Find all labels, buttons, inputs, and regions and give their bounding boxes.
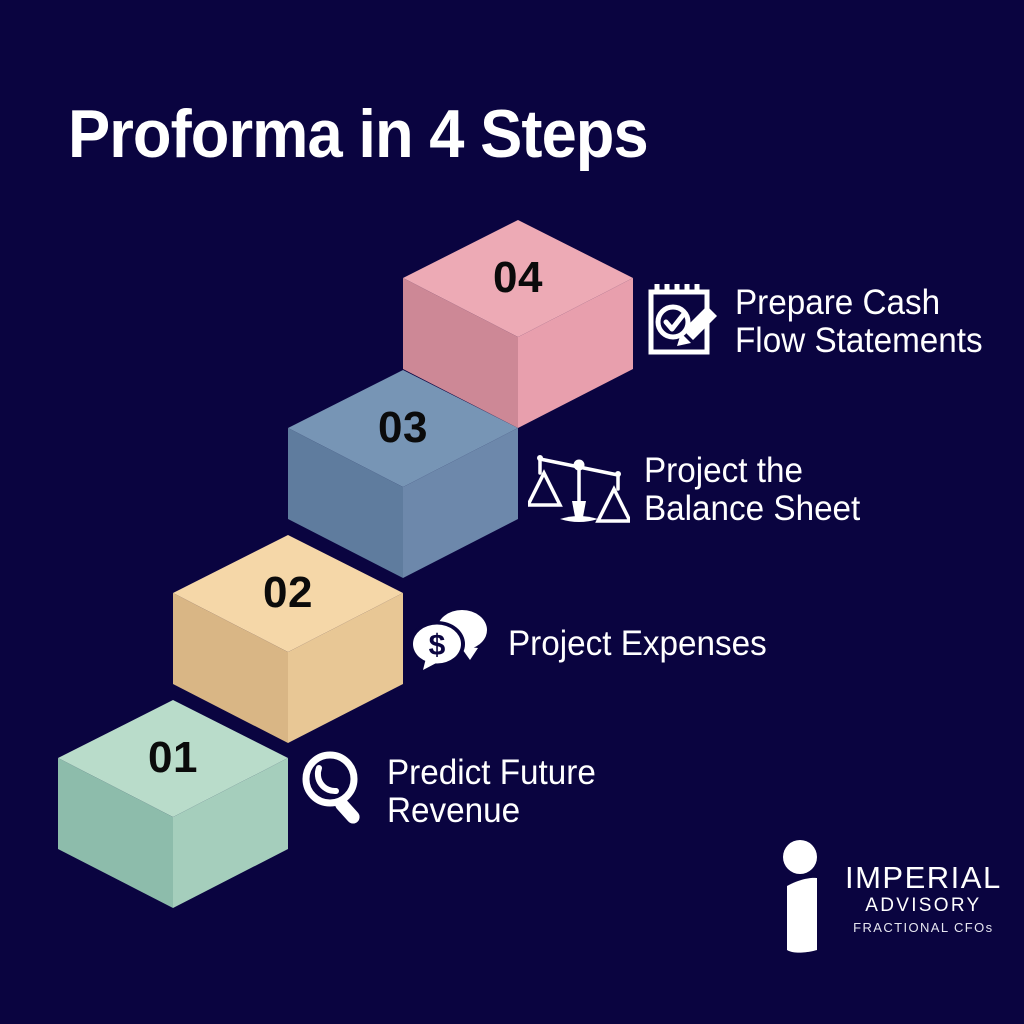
step-label-03: Project the Balance Sheet — [644, 452, 860, 526]
logo-wordmark: IMPERIAL ADVISORY FRACTIONAL CFOs — [845, 862, 1002, 937]
cube-03-top — [288, 370, 518, 487]
notepad-check-pencil-icon — [643, 278, 721, 365]
infographic-canvas: Proforma in 4 Steps 01 02 03 — [0, 0, 1024, 1024]
step-row-01: Predict Future Revenue — [297, 748, 607, 835]
cube-02: 02 — [173, 535, 403, 743]
cube-02-left — [173, 593, 288, 743]
step-row-03: Project the Balance Sheet — [528, 443, 872, 536]
cube-03: 03 — [288, 370, 518, 578]
logo-division: ADVISORY — [865, 894, 981, 919]
cube-01-number: 01 — [148, 733, 198, 782]
cube-03-left — [288, 428, 403, 578]
cube-03-right — [403, 428, 518, 578]
cube-04-number: 04 — [493, 253, 543, 302]
cube-01-top — [58, 700, 288, 817]
cube-04-right — [518, 278, 633, 428]
cube-02-number: 02 — [263, 568, 313, 617]
person-i-icon — [775, 838, 829, 961]
step-label-02: Project Expenses — [508, 625, 767, 662]
brand-logo: IMPERIAL ADVISORY FRACTIONAL CFOs — [775, 838, 1002, 961]
cube-01: 01 — [58, 700, 288, 908]
magnifying-glass-icon — [297, 748, 373, 835]
cube-01-left — [58, 758, 173, 908]
cube-02-top — [173, 535, 403, 652]
balance-scales-icon — [528, 443, 630, 536]
dollar-speech-bubbles-icon: $ — [412, 608, 494, 679]
step-row-04: Prepare Cash Flow Statements — [643, 278, 996, 365]
cube-04: 04 — [403, 220, 633, 428]
page-title: Proforma in 4 Steps — [68, 100, 648, 168]
step-label-01: Predict Future Revenue — [387, 754, 596, 828]
svg-text:$: $ — [429, 629, 446, 662]
logo-company-name: IMPERIAL — [845, 862, 1002, 895]
cube-04-top — [403, 220, 633, 337]
cube-03-number: 03 — [378, 403, 428, 452]
step-label-04: Prepare Cash Flow Statements — [735, 284, 983, 358]
cube-01-right — [173, 758, 288, 908]
logo-tagline: FRACTIONAL CFOs — [853, 919, 993, 937]
cube-04-left — [403, 278, 518, 428]
cube-02-right — [288, 593, 403, 743]
step-row-02: $ Project Expenses — [412, 608, 780, 679]
